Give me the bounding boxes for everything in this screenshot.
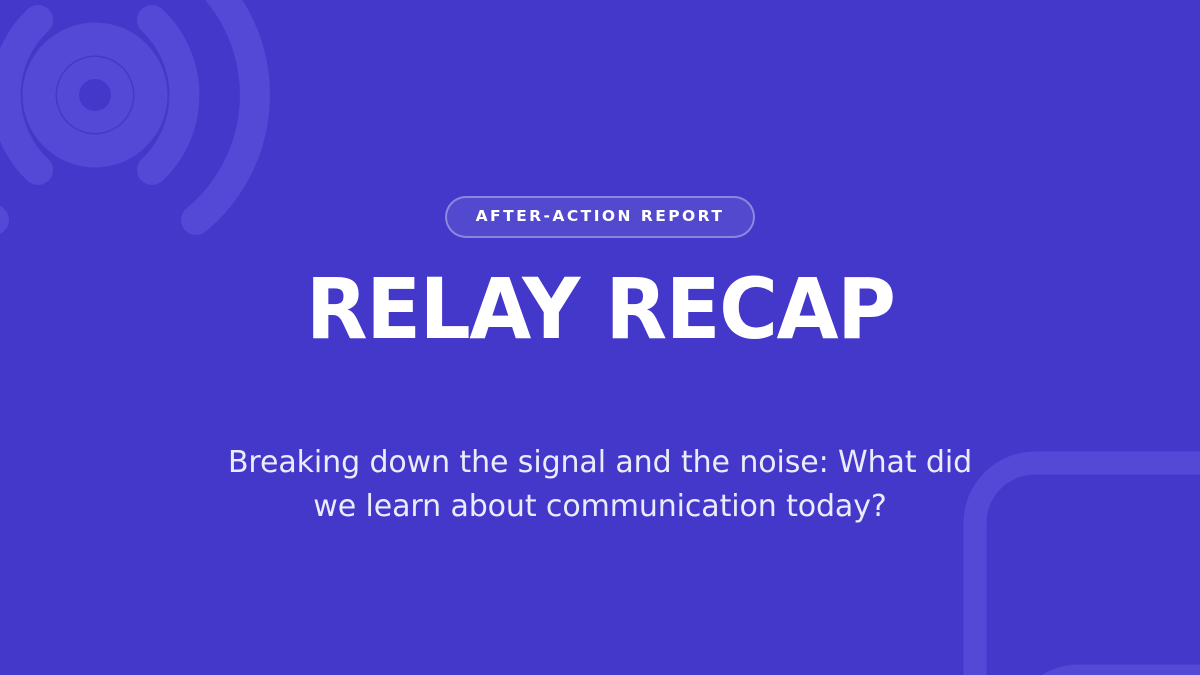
page-title: RELAY RECAP <box>306 268 895 350</box>
eyebrow-badge-label: AFTER-ACTION REPORT <box>476 209 725 225</box>
eyebrow-badge: AFTER-ACTION REPORT <box>445 196 756 238</box>
content-stack: AFTER-ACTION REPORT RELAY RECAP Breaking… <box>0 0 1200 675</box>
page-subtitle: Breaking down the signal and the noise: … <box>220 441 980 530</box>
slide-canvas: AFTER-ACTION REPORT RELAY RECAP Breaking… <box>0 0 1200 675</box>
